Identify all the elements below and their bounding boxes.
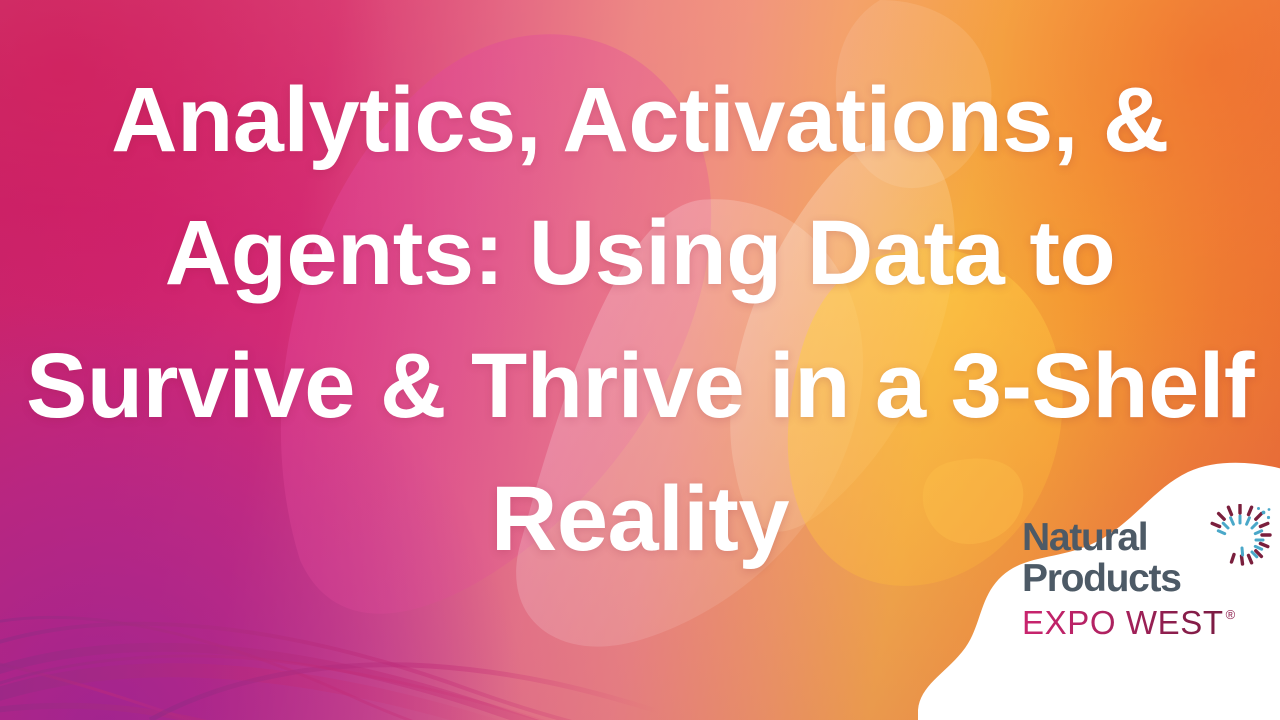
title-line-3: Survive & Thrive in a 3-Shelf (26, 320, 1254, 453)
logo-wordmark: Natural Products EXPO WEST ® (1022, 518, 1272, 640)
title-line-1: Analytics, Activations, & (111, 54, 1169, 187)
expo-west-logo: Natural Products EXPO WEST ® (918, 458, 1280, 720)
registered-trademark-icon: ® (1226, 608, 1236, 622)
title-slide: Analytics, Activations, & Agents: Using … (0, 0, 1280, 720)
title-line-2: Agents: Using Data to (165, 187, 1115, 320)
title-line-4: Reality (491, 453, 789, 586)
logo-text-expo-west: EXPO WEST (1022, 606, 1224, 640)
sunburst-icon (1208, 504, 1272, 568)
logo-expo-row: EXPO WEST ® (1022, 606, 1272, 640)
